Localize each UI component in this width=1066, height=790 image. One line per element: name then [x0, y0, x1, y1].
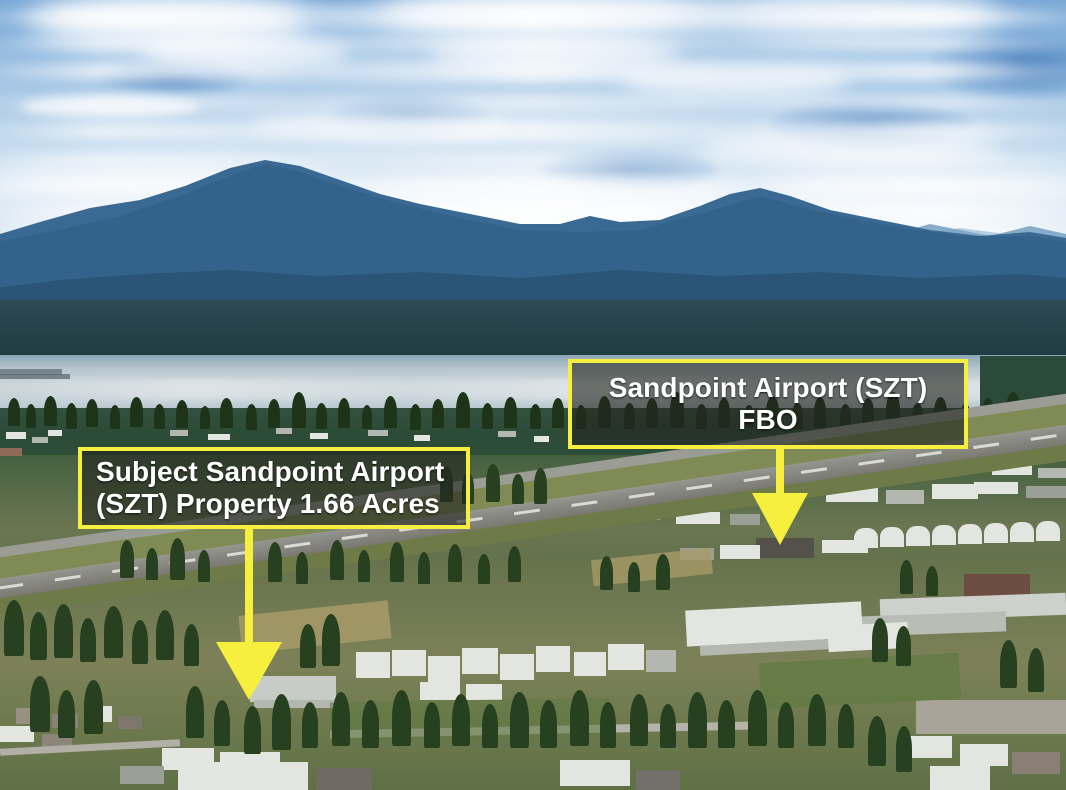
aerial-photo-scene: Sandpoint Airport (SZT) FBO Subject Sand… — [0, 0, 1066, 790]
arrow-subject-shaft — [245, 529, 253, 644]
arrow-subject-property — [216, 529, 282, 700]
arrow-fbo-shaft — [776, 449, 784, 495]
arrow-subject-head — [216, 642, 282, 700]
arrow-fbo-head — [752, 493, 808, 545]
subject-parcel-building-shadow — [254, 700, 334, 708]
callout-fbo-label: Sandpoint Airport (SZT) FBO — [586, 372, 950, 437]
callout-box-fbo[interactable]: Sandpoint Airport (SZT) FBO — [568, 359, 968, 449]
parking-lot — [916, 700, 1066, 734]
bridge-shadow — [0, 369, 62, 375]
callout-subject-label: Subject Sandpoint Airport (SZT) Property… — [96, 456, 444, 521]
callout-box-subject[interactable]: Subject Sandpoint Airport (SZT) Property… — [78, 447, 470, 529]
arrow-fbo — [752, 449, 808, 545]
